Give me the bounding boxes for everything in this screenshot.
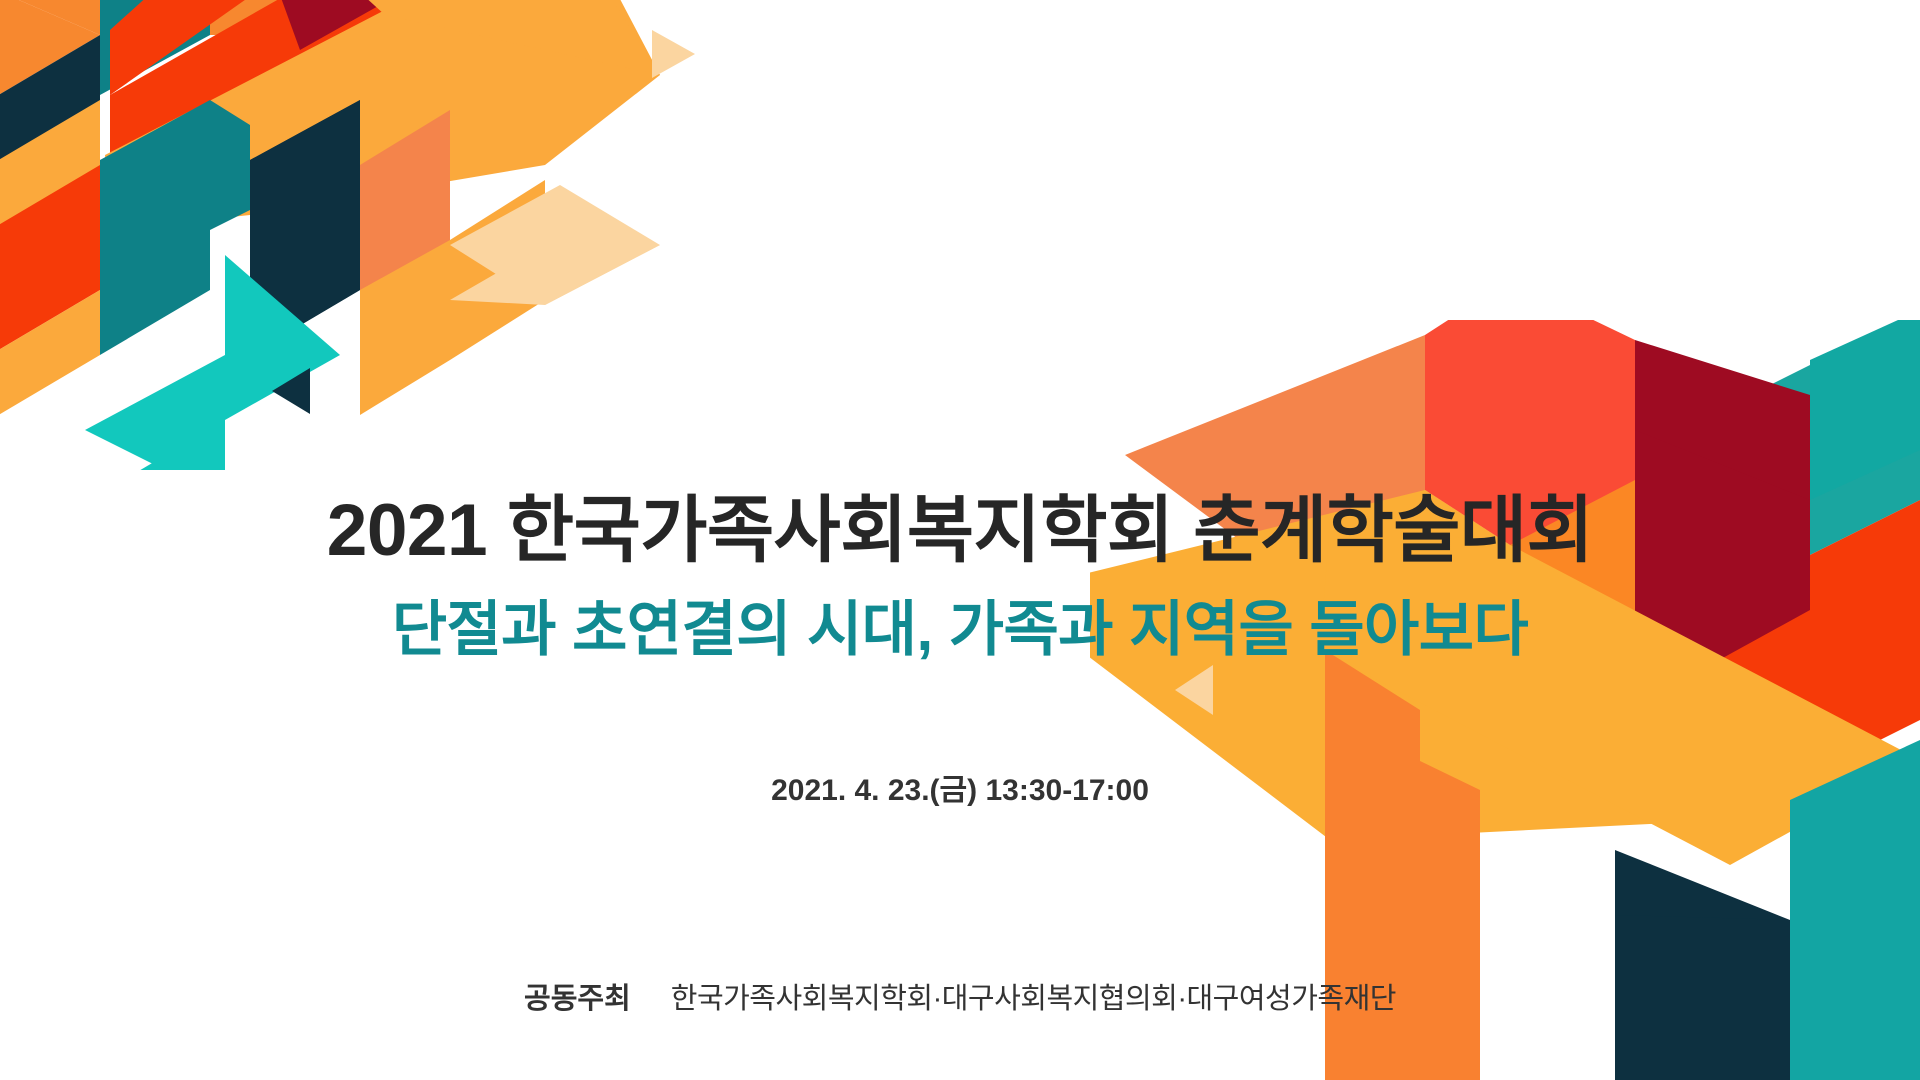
page-title: 2021 한국가족사회복지학회 춘계학술대회 [0, 494, 1920, 567]
poster-canvas: 2021 한국가족사회복지학회 춘계학술대회 단절과 초연결의 시대, 가족과 … [0, 0, 1920, 1080]
poster-text-content: 2021 한국가족사회복지학회 춘계학술대회 단절과 초연결의 시대, 가족과 … [0, 0, 1920, 1080]
host-row: 공동주최 한국가족사회복지학회·대구사회복지협의회·대구여성가족재단 [0, 975, 1920, 1017]
page-subtitle: 단절과 초연결의 시대, 가족과 지역을 돌아보다 [0, 600, 1920, 660]
host-label: 공동주최 [524, 975, 631, 1017]
host-names: 한국가족사회복지학회·대구사회복지협의회·대구여성가족재단 [671, 975, 1396, 1017]
event-datetime: 2021. 4. 23.(금) 13:30-17:00 [0, 765, 1920, 809]
